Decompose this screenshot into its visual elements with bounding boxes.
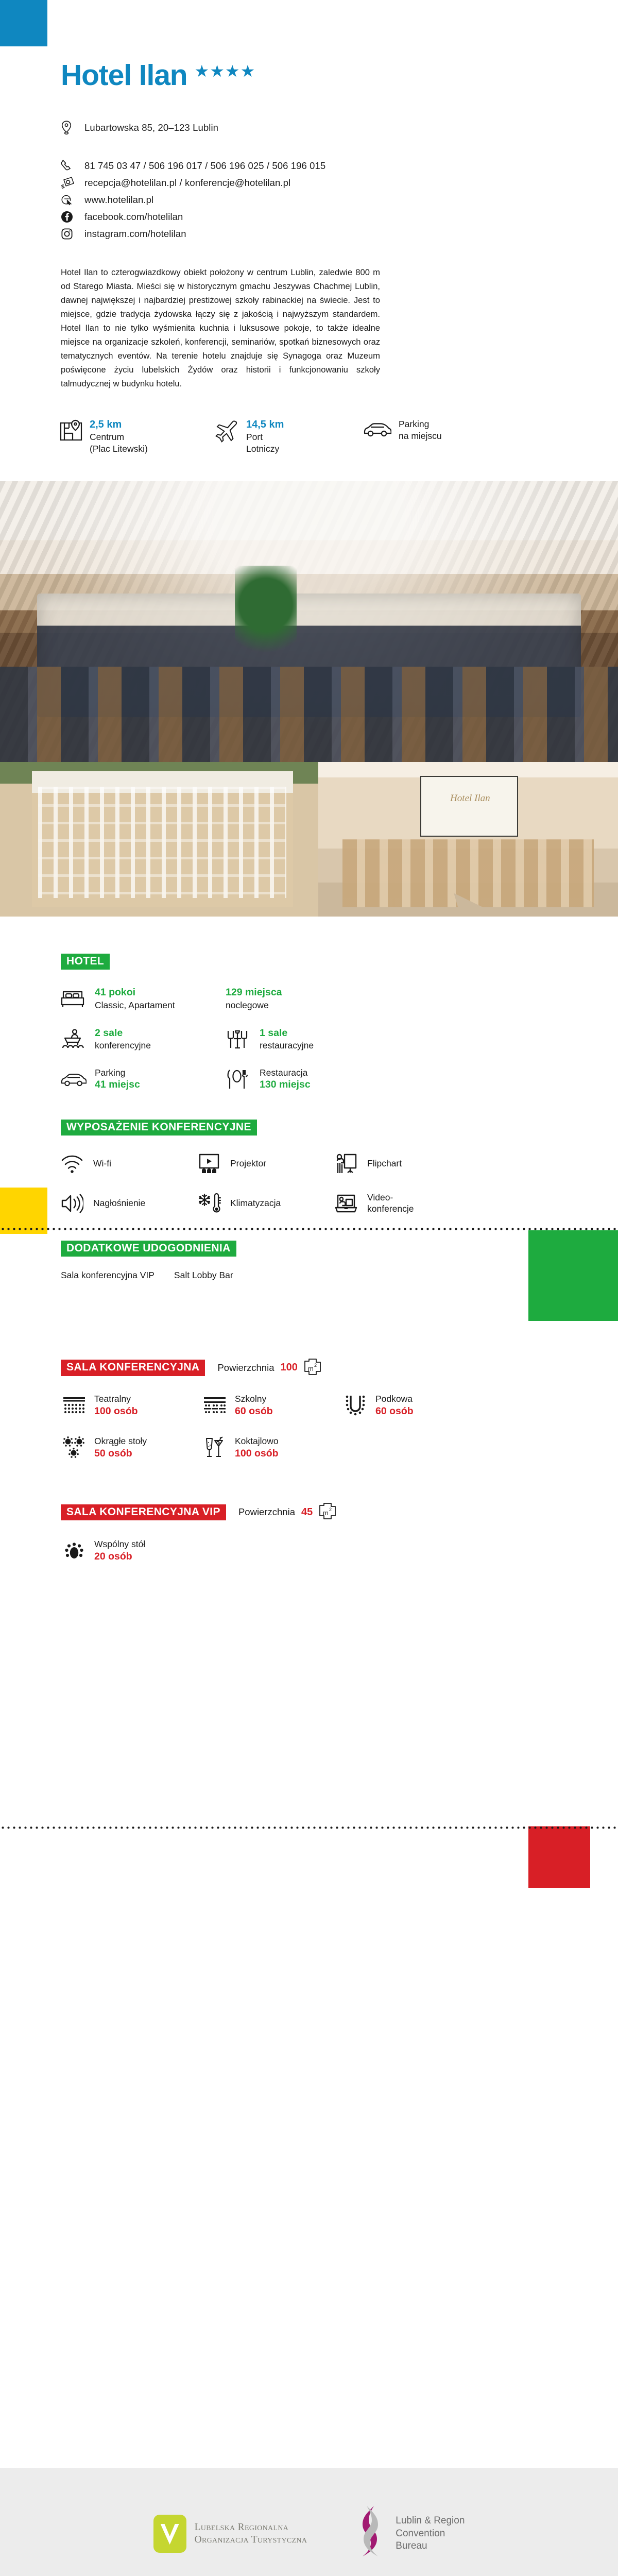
common-table-layout-icon [61, 1540, 88, 1561]
car-icon [61, 1071, 88, 1088]
contact-website-text: www.hotelilan.pl [84, 194, 153, 206]
restaurant-photo [0, 481, 618, 762]
hall-main-header: SALA KONFERENCYJNA Powierzchnia 100 m 2 [61, 1358, 618, 1378]
email-icon [61, 177, 84, 189]
stat-beds-text: 129 miejsca noclegowe [226, 986, 282, 1011]
stat-parking: Parking 41 miejsc [61, 1067, 226, 1092]
distance-centrum-text: 2,5 km Centrum (Plac Litewski) [90, 418, 148, 454]
stat-rooms-value: 41 pokoi [95, 986, 175, 999]
hall-main-layouts: Teatralny 100 osób [61, 1393, 483, 1478]
stat-conference-rooms: 2 sale konferencyjne [61, 1027, 226, 1052]
stat-conference-text: 2 sale konferencyjne [95, 1027, 151, 1052]
equipment-aircon: Klimatyzacja [198, 1192, 335, 1215]
hall-main-tag: SALA KONFERENCYJNA [61, 1360, 205, 1376]
distance-parking-label1: Parking [399, 418, 442, 430]
instagram-icon [61, 228, 84, 240]
equipment-grid: Wi-fi Projektor [61, 1153, 473, 1232]
stat-restaurant-rooms: 1 sale restauracyjne [226, 1027, 390, 1052]
stat-restaurant-seats: Restauracja 130 miejsc [226, 1067, 390, 1092]
theatre-layout-icon [61, 1395, 88, 1416]
distance-airport-text: 14,5 km Port Lotniczy [246, 418, 284, 454]
hall-vip-area: Powierzchnia 45 m 2 [238, 1502, 336, 1522]
stat-restaurant-seats-value: 130 miejsc [260, 1078, 311, 1091]
layout-common-table-text: Wspólny stół 20 osób [94, 1538, 145, 1563]
hall-vip-area-value: 45 [301, 1506, 313, 1518]
layout-round-tables-capacity: 50 osób [94, 1447, 147, 1460]
layout-theatre-label: Teatralny [94, 1393, 138, 1405]
lrcb-logo-line1: Lublin & Region [396, 2515, 465, 2528]
layout-common-table-label: Wspólny stół [94, 1538, 145, 1550]
flipchart-icon [335, 1153, 360, 1175]
amenities-section-tag: DODATKOWE UDOGODNIENIA [61, 1241, 236, 1257]
stat-beds-label: noclegowe [226, 999, 282, 1011]
hall-vip-header: SALA KONFERENCYJNA VIP Powierzchnia 45 m… [61, 1502, 618, 1522]
title-row: Hotel Ilan ★★★★ [61, 61, 618, 90]
hall-vip-tag: SALA KONFERENCYJNA VIP [61, 1504, 226, 1520]
equipment-aircon-label: Klimatyzacja [230, 1198, 281, 1209]
distance-centrum: 2,5 km Centrum (Plac Litewski) [60, 418, 214, 454]
contact-phone[interactable]: 81 745 03 47 / 506 196 017 / 506 196 025… [61, 158, 618, 174]
videoconference-icon [335, 1194, 360, 1213]
stat-restaurant-label: restauracyjne [260, 1040, 314, 1052]
layout-common-table-capacity: 20 osób [94, 1550, 145, 1563]
square-meter-icon: m 2 [319, 1502, 336, 1522]
stat-beds-value: 129 miejsca [226, 986, 282, 999]
svg-text:www: www [64, 197, 70, 200]
svg-text:2: 2 [314, 1363, 317, 1368]
amenity-item-1: Sala konferencyjna VIP [61, 1270, 154, 1281]
conference-speaker-icon [61, 1029, 88, 1049]
photo-strip: Hotel Ilan [0, 762, 618, 917]
equipment-videoconference-label-line2: konferencje [367, 1204, 414, 1215]
layout-classroom: Szkolny 60 osób [201, 1393, 342, 1418]
location-pin-icon [61, 121, 84, 135]
stat-parking-value: 41 miejsc [95, 1078, 140, 1091]
decor-block-green [528, 1230, 618, 1321]
contact-website[interactable]: www www.hotelilan.pl [61, 192, 618, 208]
equipment-videoconference: Video- konferencje [335, 1192, 472, 1215]
stat-beds: 129 miejsca noclegowe [226, 986, 390, 1011]
horseshoe-layout-icon [342, 1394, 369, 1417]
distance-parking: Parking na miejscu [364, 418, 513, 442]
hotel-description: Hotel Ilan to czterogwiazdkowy obiekt po… [61, 265, 380, 391]
layout-round-tables-label: Okrągłe stoły [94, 1435, 147, 1447]
layout-common-table: Wspólny stół 20 osób [61, 1538, 201, 1563]
layout-horseshoe-capacity: 60 osób [375, 1405, 414, 1418]
distance-parking-text: Parking na miejscu [399, 418, 442, 442]
conference-screen-logo: Hotel Ilan [450, 793, 490, 804]
contact-instagram[interactable]: instagram.com/hotelilan [61, 226, 618, 242]
distance-centrum-label1: Centrum [90, 431, 148, 443]
wifi-icon [61, 1154, 87, 1174]
layout-cocktail: Koktajlowo 100 osób [201, 1435, 342, 1460]
equipment-speaker-label: Nagłośnienie [93, 1198, 145, 1209]
lrcb-logo: Lublin & Region Convention Bureau [356, 2505, 465, 2563]
layout-cocktail-text: Koktajlowo 100 osób [235, 1435, 279, 1460]
layout-horseshoe: Podkowa 60 osób [342, 1393, 483, 1418]
hall-section-vip: SALA KONFERENCYJNA VIP Powierzchnia 45 m… [61, 1502, 618, 1581]
conference-room-photo: Hotel Ilan [318, 762, 618, 917]
building-aerial-photo [0, 762, 318, 917]
hotel-section: HOTEL 41 pokoi Classic, Apartament [61, 954, 618, 1107]
contact-list: Lubartowska 85, 20–123 Lublin 81 745 03 … [61, 120, 618, 242]
lrcb-logo-text: Lublin & Region Convention Bureau [396, 2515, 465, 2553]
svg-text:m: m [323, 1509, 329, 1517]
layout-theatre: Teatralny 100 osób [61, 1393, 201, 1418]
distance-airport-label1: Port [246, 431, 284, 443]
contact-facebook[interactable]: facebook.com/hotelilan [61, 209, 618, 225]
facebook-icon [61, 211, 84, 223]
stat-parking-text: Parking 41 miejsc [95, 1067, 140, 1092]
decor-block-red [528, 1826, 590, 1888]
contact-phone-text: 81 745 03 47 / 506 196 017 / 506 196 025… [84, 160, 325, 172]
stat-rooms: 41 pokoi Classic, Apartament [61, 986, 226, 1011]
stat-restaurant-seats-label: Restauracja [260, 1067, 311, 1079]
round-tables-layout-icon [61, 1436, 88, 1459]
layout-cocktail-label: Koktajlowo [235, 1435, 279, 1447]
layout-round-tables-text: Okrągłe stoły 50 osób [94, 1435, 147, 1460]
divider-dotted-halls [0, 1826, 618, 1829]
layout-horseshoe-label: Podkowa [375, 1393, 414, 1405]
stat-restaurant-value: 1 sale [260, 1027, 314, 1040]
airplane-icon [214, 418, 239, 446]
bed-icon [61, 989, 88, 1009]
distance-airport-value: 14,5 km [246, 419, 284, 430]
amenity-item-2: Salt Lobby Bar [174, 1270, 233, 1281]
classroom-layout-icon [201, 1395, 228, 1416]
layout-theatre-text: Teatralny 100 osób [94, 1393, 138, 1418]
lrcb-mark-icon [356, 2505, 386, 2563]
square-meter-icon: m 2 [304, 1358, 321, 1378]
hall-main-area-label: Powierzchnia [217, 1362, 274, 1374]
hall-section-main: SALA KONFERENCYJNA Powierzchnia 100 m 2 [61, 1358, 618, 1478]
distance-centrum-value: 2,5 km [90, 419, 122, 430]
layout-horseshoe-text: Podkowa 60 osób [375, 1393, 414, 1418]
distance-airport: 14,5 km Port Lotniczy [214, 418, 364, 454]
equipment-speaker: Nagłośnienie [61, 1192, 198, 1215]
contact-facebook-text: facebook.com/hotelilan [84, 211, 183, 223]
stat-conference-label: konferencyjne [95, 1040, 151, 1052]
stat-rooms-text: 41 pokoi Classic, Apartament [95, 986, 175, 1011]
equipment-videoconference-label: Video- konferencje [367, 1192, 414, 1215]
lrot-logo-line1: Lubelska Regionalna [195, 2521, 307, 2534]
layout-theatre-capacity: 100 osób [94, 1405, 138, 1418]
layout-round-tables: Okrągłe stoły 50 osób [61, 1435, 201, 1460]
page-title: Hotel Ilan [61, 61, 187, 90]
equipment-section-tag: WYPOSAŻENIE KONFERENCYJNE [61, 1120, 257, 1136]
distances-row: 2,5 km Centrum (Plac Litewski) 14,5 km P… [60, 418, 618, 454]
cocktail-layout-icon [201, 1436, 228, 1459]
website-icon: www [61, 194, 84, 207]
projector-icon [198, 1154, 224, 1174]
lrot-logo-text: Lubelska Regionalna Organizacja Turystyc… [195, 2521, 307, 2547]
footer: Lubelska Regionalna Organizacja Turystyc… [0, 2468, 618, 2576]
air-conditioning-icon [198, 1193, 224, 1214]
footer-logos: Lubelska Regionalna Organizacja Turystyc… [0, 2468, 618, 2563]
distance-centrum-label2: (Plac Litewski) [90, 443, 148, 454]
contact-email-text: recepcja@hotelilan.pl / konferencje@hote… [84, 177, 290, 189]
hall-main-area: Powierzchnia 100 m 2 [217, 1358, 321, 1378]
stat-rooms-label: Classic, Apartament [95, 999, 175, 1011]
equipment-wifi-label: Wi-fi [93, 1158, 111, 1170]
stat-restaurant-text: 1 sale restauracyjne [260, 1027, 314, 1052]
photo-gallery: Hotel Ilan [0, 481, 618, 917]
equipment-flipchart: Flipchart [335, 1153, 472, 1175]
hall-main-area-value: 100 [280, 1362, 297, 1374]
phone-icon [61, 159, 84, 173]
stat-conference-value: 2 sale [95, 1027, 151, 1040]
hall-vip-area-label: Powierzchnia [238, 1506, 295, 1518]
layout-classroom-capacity: 60 osób [235, 1405, 273, 1418]
equipment-section: WYPOSAŻENIE KONFERENCYJNE Wi-fi [61, 1120, 618, 1232]
hotel-stats-grid: 41 pokoi Classic, Apartament 129 miejsca… [61, 986, 390, 1107]
layout-cocktail-capacity: 100 osób [235, 1447, 279, 1460]
equipment-flipchart-label: Flipchart [367, 1158, 402, 1170]
distance-airport-label2: Lotniczy [246, 443, 284, 454]
stat-parking-label: Parking [95, 1067, 140, 1079]
svg-text:m: m [308, 1365, 314, 1372]
contact-address: Lubartowska 85, 20–123 Lublin [61, 120, 618, 135]
lrot-logo: Lubelska Regionalna Organizacja Turystyc… [153, 2515, 307, 2553]
car-icon [364, 419, 391, 440]
map-pin-icon [60, 418, 82, 446]
lrcb-logo-line3: Bureau [396, 2540, 465, 2553]
lrot-logo-line2: Organizacja Turystyczna [195, 2534, 307, 2546]
cutlery-icon [226, 1069, 252, 1090]
contact-address-text: Lubartowska 85, 20–123 Lublin [84, 122, 218, 133]
lrot-mark-icon [153, 2515, 186, 2553]
hall-vip-layouts: Wspólny stół 20 osób [61, 1538, 483, 1581]
contact-instagram-text: instagram.com/hotelilan [84, 228, 186, 240]
header: Hotel Ilan ★★★★ Lubartowska 85, 20–123 L… [0, 0, 618, 242]
equipment-videoconference-label-line1: Video- [367, 1192, 414, 1204]
layout-classroom-label: Szkolny [235, 1393, 273, 1405]
dining-table-icon [226, 1029, 252, 1049]
distance-parking-label2: na miejscu [399, 430, 442, 442]
divider-dotted-gallery [0, 1227, 618, 1231]
equipment-wifi: Wi-fi [61, 1153, 198, 1175]
hotel-brochure-page: Hotel Ilan ★★★★ Lubartowska 85, 20–123 L… [0, 0, 618, 2576]
decor-block-blue [0, 0, 47, 46]
equipment-projector: Projektor [198, 1153, 335, 1175]
stat-restaurant-seats-text: Restauracja 130 miejsc [260, 1067, 311, 1092]
equipment-projector-label: Projektor [230, 1158, 266, 1170]
speaker-icon [61, 1194, 87, 1213]
lrcb-logo-line2: Convention [396, 2528, 465, 2540]
hotel-section-tag: HOTEL [61, 954, 110, 970]
layout-classroom-text: Szkolny 60 osób [235, 1393, 273, 1418]
svg-text:2: 2 [329, 1507, 332, 1512]
star-rating: ★★★★ [195, 61, 256, 79]
contact-email[interactable]: recepcja@hotelilan.pl / konferencje@hote… [61, 175, 618, 191]
